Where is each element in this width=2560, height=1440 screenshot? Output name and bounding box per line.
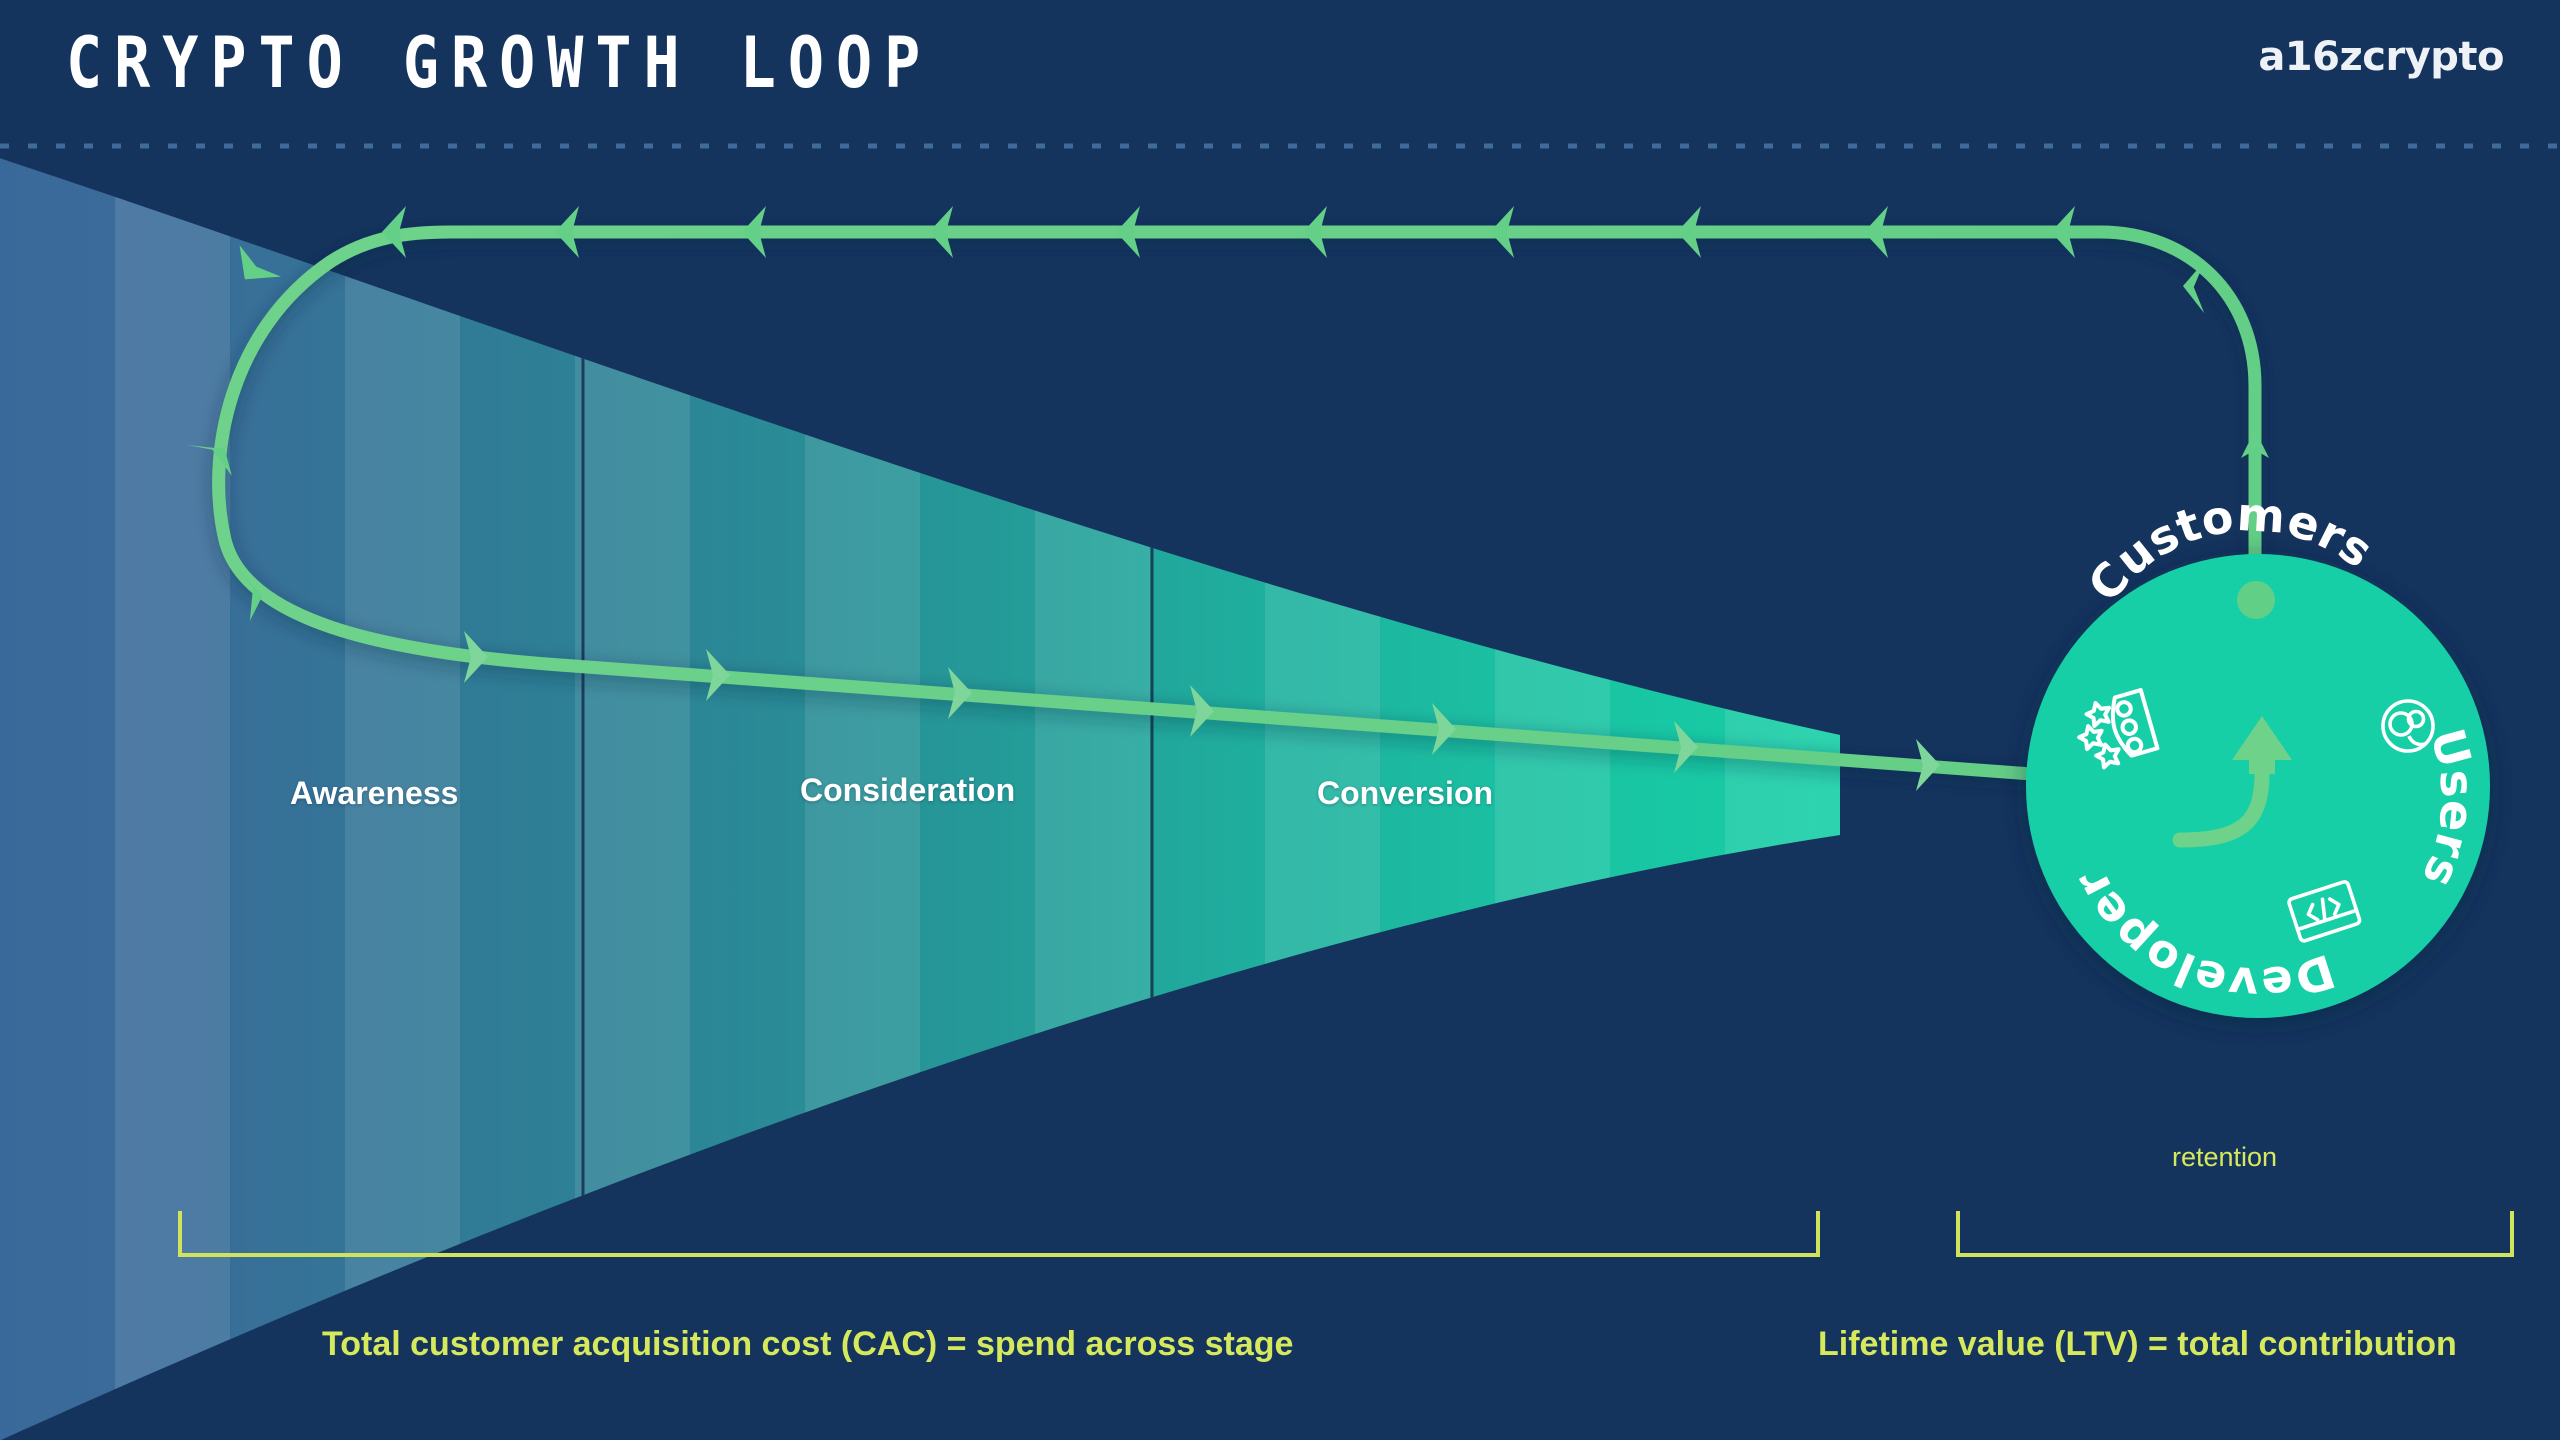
caption-cac: Total customer acquisition cost (CAC) = … (322, 1325, 1293, 1364)
infographic-canvas: Customers Users Developers (0, 0, 2560, 1440)
stage-label-conversion: Conversion (1317, 775, 1493, 812)
page-title: CRYPTO GROWTH LOOP (66, 22, 932, 105)
caption-ltv: Lifetime value (LTV) = total contributio… (1818, 1325, 2457, 1364)
retention-label: retention (2172, 1142, 2277, 1173)
brand-logo: a16zcrypto (2258, 34, 2504, 80)
loop-origin-dot (2237, 581, 2275, 619)
stage-label-awareness: Awareness (290, 775, 458, 812)
stage-label-consideration: Consideration (800, 772, 1015, 809)
diagram-svg: Customers Users Developers (0, 0, 2560, 1440)
